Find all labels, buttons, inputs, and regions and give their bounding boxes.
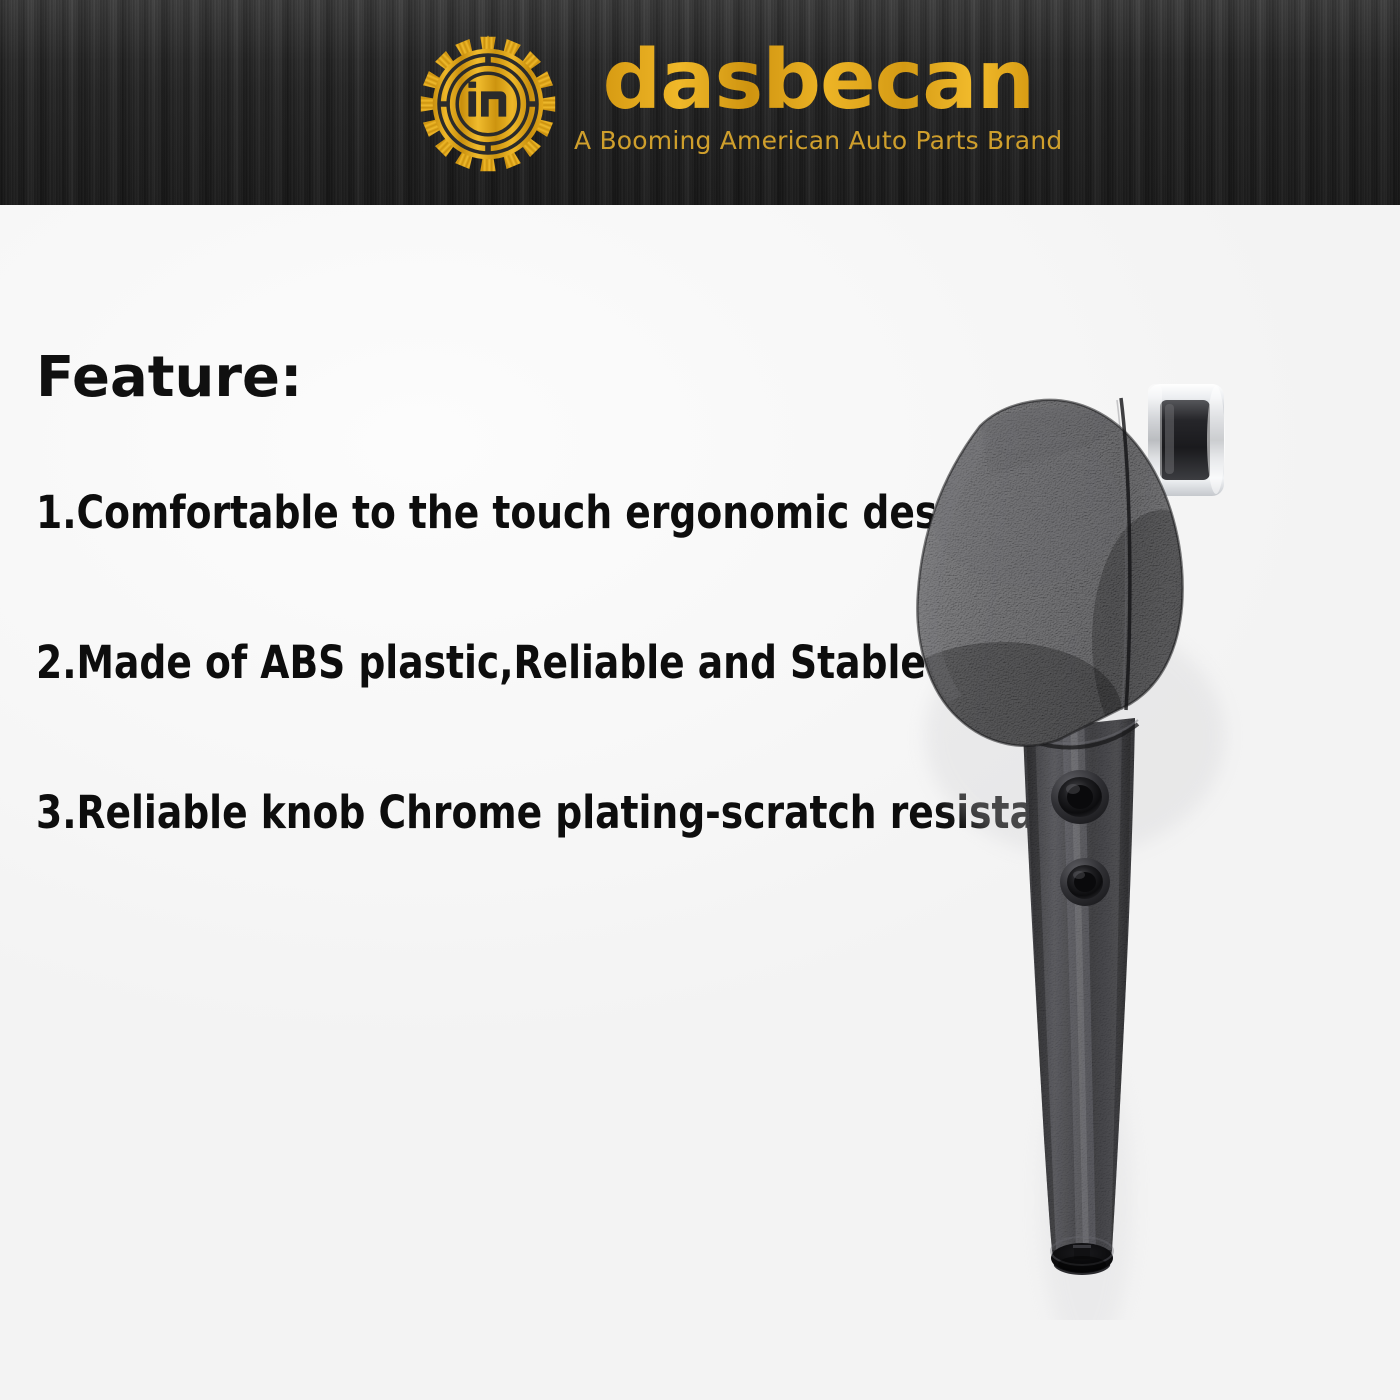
gear-cog-in-monogram-icon xyxy=(418,34,558,174)
shaft-lower-port xyxy=(1060,858,1110,906)
product-feature-image: dasbecan A Booming American Auto Parts B… xyxy=(0,0,1400,1400)
brand-tagline: A Booming American Auto Parts Brand xyxy=(574,126,1062,155)
brand-wordmark-block: dasbecan A Booming American Auto Parts B… xyxy=(574,34,1062,155)
brand-header-banner: dasbecan A Booming American Auto Parts B… xyxy=(0,0,1400,205)
feature-list-item: 1.Comfortable to the touch ergonomic des… xyxy=(36,490,966,535)
product-image xyxy=(830,300,1350,1320)
feature-heading: Feature: xyxy=(36,345,302,410)
feature-list-item: 2.Made of ABS plastic,Reliable and Stabl… xyxy=(36,640,966,685)
brand-logo-lockup: dasbecan A Booming American Auto Parts B… xyxy=(418,34,1062,174)
gear-shift-knob-illustration xyxy=(830,300,1350,1320)
brand-name: dasbecan xyxy=(602,40,1033,122)
feature-list-item: 3.Reliable knob Chrome plating-scratch r… xyxy=(36,790,966,835)
shaft-upper-port xyxy=(1051,770,1109,824)
